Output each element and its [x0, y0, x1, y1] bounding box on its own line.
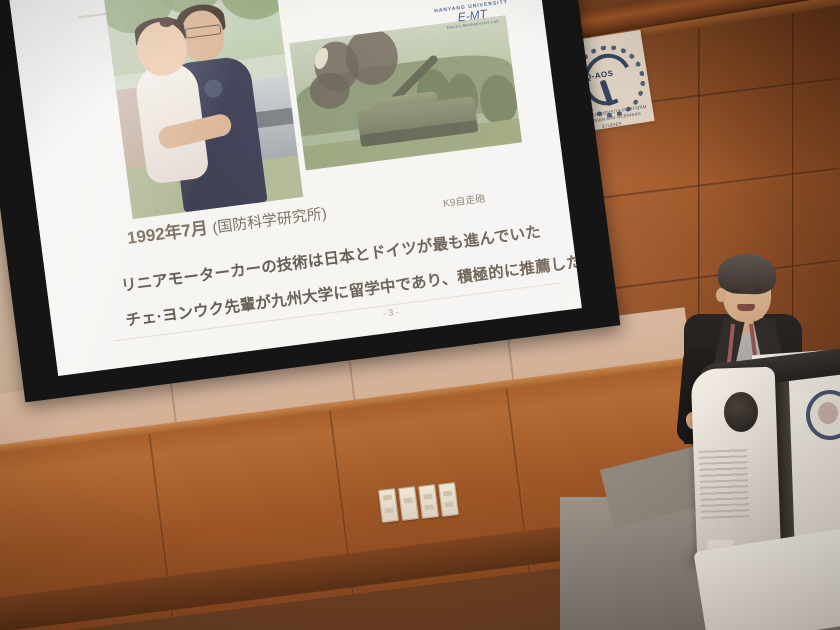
podium-speaker-grille-icon [724, 392, 758, 432]
speaker-brow-left [729, 282, 741, 285]
speaker-eye-right [754, 289, 762, 292]
caption-date-text: 1992年7月 [126, 219, 209, 248]
slide-photo-man-and-baby [102, 0, 303, 219]
speaker-mouth [737, 304, 755, 311]
slide-page-number: - 3 - [382, 307, 399, 319]
slide-caption-k9: K9自走砲 [442, 190, 486, 210]
speaker-brow-right [752, 281, 764, 284]
caption-date-paren: (国防科学研究所) [211, 205, 327, 237]
slide-photo-k9-howitzer [289, 15, 522, 170]
speaker-eye-left [731, 290, 739, 293]
projection-screen: 九州大学に留学した理由 [7, 0, 582, 376]
lecture-hall-photo: OW for Asian and Oceanian Studies 8 | DE… [0, 0, 840, 630]
podium-vent-grille [699, 449, 749, 523]
